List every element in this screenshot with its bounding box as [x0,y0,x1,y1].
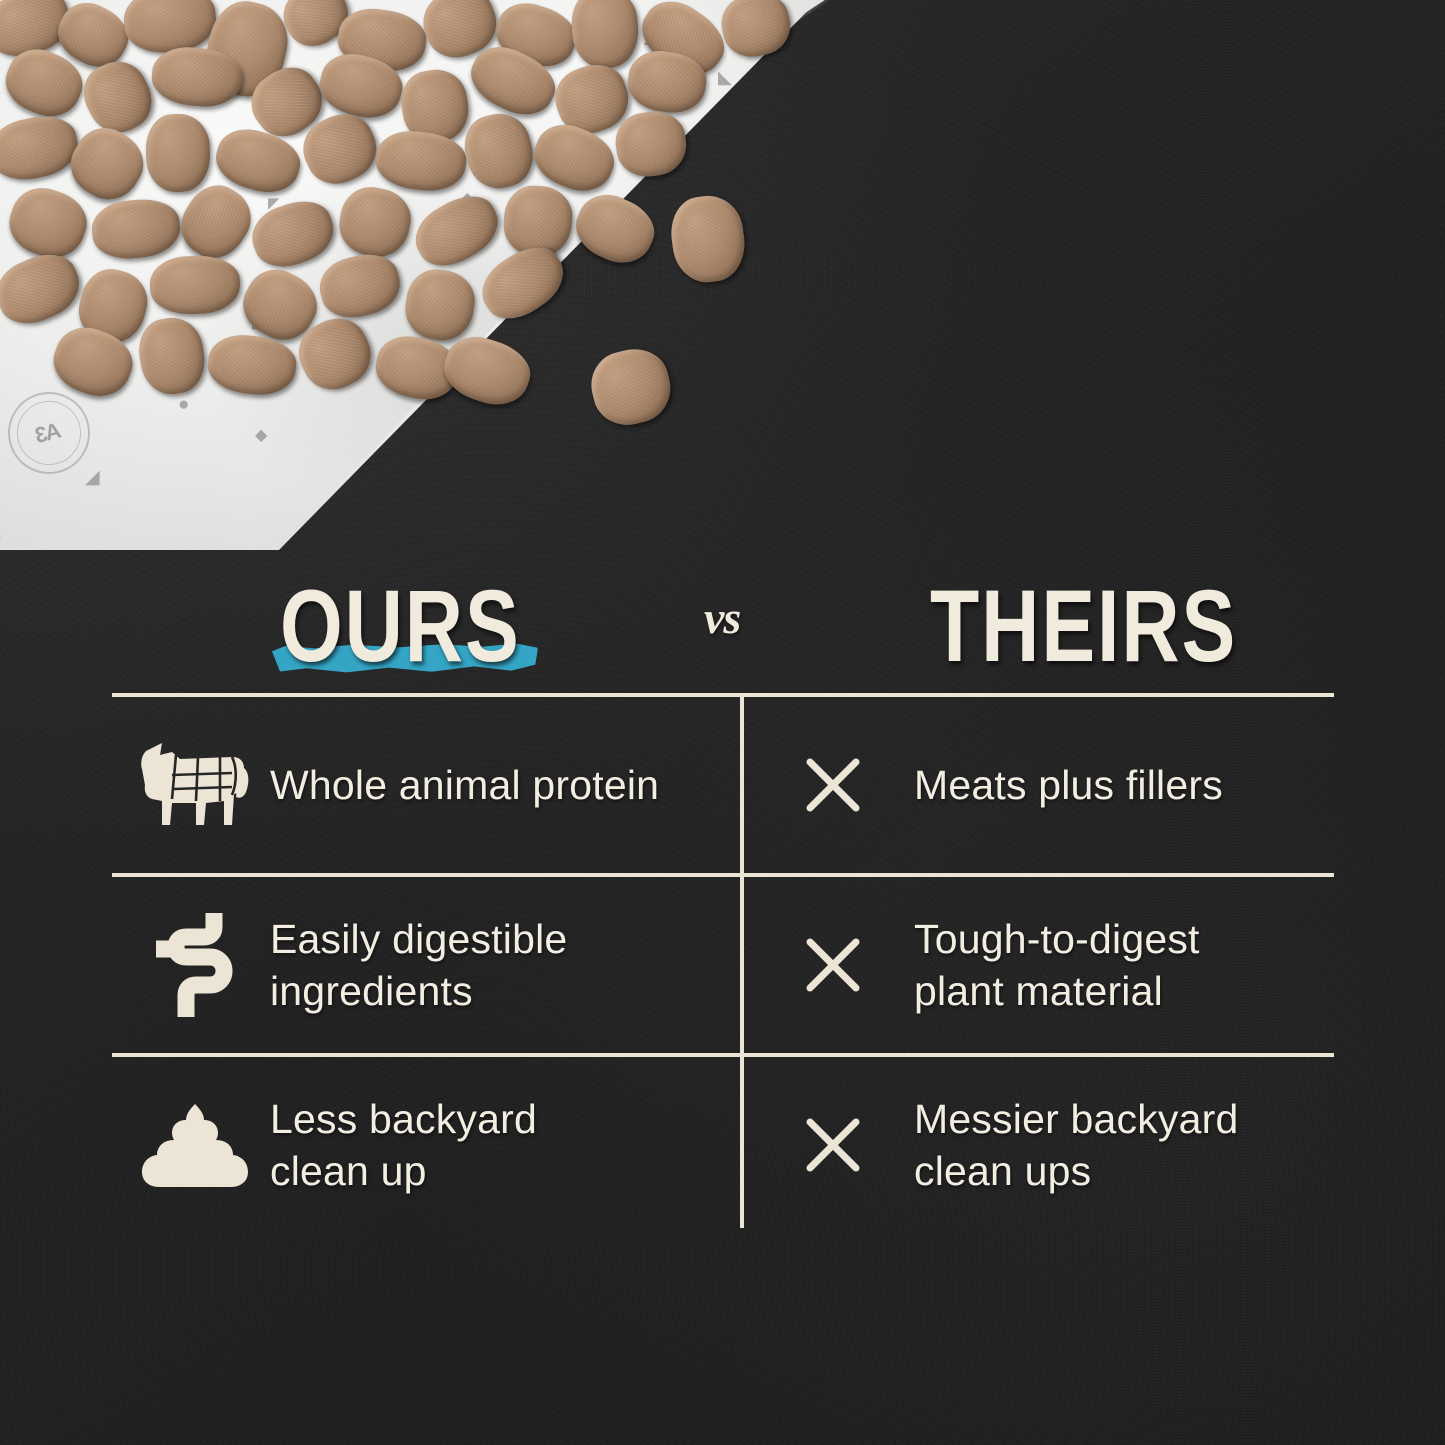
theirs-label: Meats plus fillers [914,759,1223,811]
x-mark-icon [804,936,914,994]
vs-label: vs [704,591,740,644]
ours-label: Whole animal protein [270,759,659,811]
turkey-motif-icon: ● [178,395,189,414]
theirs-header: THEIRS [930,567,1237,685]
theirs-cell: Messier backyard clean ups [740,1057,1334,1233]
kibble-nugget [666,191,749,286]
theirs-label: Tough-to-digest plant material [914,913,1200,1018]
goat-motif-icon: ◣ [718,68,732,86]
infographic-canvas: ▲ ▬ ● ◆ ◢ ◣ ◥ ◤ ▲ ◣ ◢ ◆ A3 [0,0,1445,1445]
theirs-label: Messier backyard clean ups [914,1093,1238,1198]
poop-icon [120,1102,270,1188]
kibble-nugget [584,342,678,433]
ours-cell: Less backyard clean up [112,1057,740,1233]
table-row: Easily digestible ingredients Tough-to-d… [112,877,1334,1057]
table-row: Whole animal protein Meats plus fillers [112,697,1334,877]
cow-butcher-cuts-icon [120,739,270,831]
ours-cell: Whole animal protein [112,697,740,873]
column-divider [740,693,744,877]
product-photo: ▲ ▬ ● ◆ ◢ ◣ ◥ ◤ ▲ ◣ ◢ ◆ A3 [0,0,830,540]
comparison-headers: OURS vs THEIRS [112,565,1334,693]
ours-cell: Easily digestible ingredients [112,877,740,1053]
ours-header: OURS [280,567,521,685]
x-mark-icon [804,1116,914,1174]
intestine-icon [120,913,270,1017]
chicken-motif-icon: ◢ [85,468,100,487]
column-divider [740,1053,744,1228]
comparison-table: Whole animal protein Meats plus fillers [112,693,1334,1233]
duck-motif-icon: ◆ [255,428,267,444]
ours-label: Less backyard clean up [270,1093,537,1198]
comparison-section: OURS vs THEIRS [112,565,1334,1233]
theirs-cell: Tough-to-digest plant material [740,877,1334,1053]
table-row: Less backyard clean up Messier backyard … [112,1057,1334,1233]
kibble-nugget [145,113,212,193]
theirs-cell: Meats plus fillers [740,697,1334,873]
ours-label: Easily digestible ingredients [270,913,567,1018]
x-mark-icon [804,756,914,814]
column-divider [740,873,744,1057]
